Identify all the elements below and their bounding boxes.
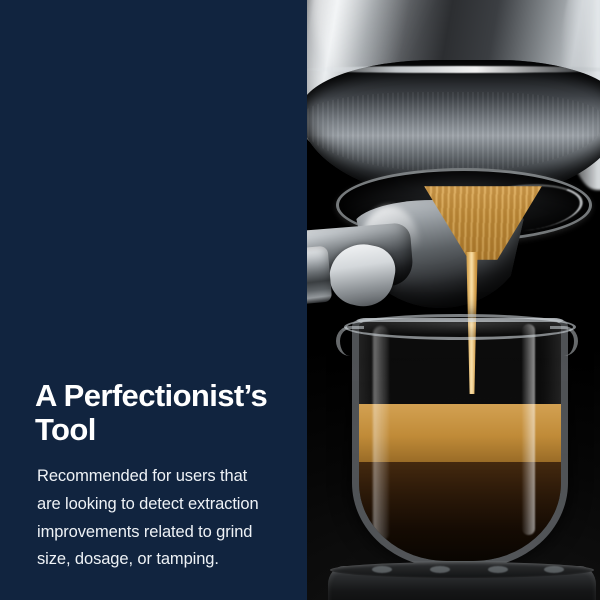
cup-rim [344, 314, 576, 340]
body-copy: Recommended for users that are looking t… [37, 463, 293, 574]
cup-spout-left [336, 326, 364, 356]
cup-glass-highlight-right [522, 324, 535, 535]
drip-tray-hole-4 [544, 566, 564, 573]
promo-card: A Perfectionist’s Tool Recommended for u… [0, 0, 600, 600]
text-panel: A Perfectionist’s Tool Recommended for u… [0, 0, 307, 600]
drip-tray-hole-1 [372, 566, 392, 573]
headline: A Perfectionist’s Tool [35, 379, 293, 447]
cup-glass-highlight-left [373, 326, 389, 541]
drip-tray-hole-3 [488, 566, 508, 573]
cup-spout-right [550, 326, 578, 356]
drip-tray-hole-2 [430, 566, 450, 573]
copy-block: A Perfectionist’s Tool Recommended for u… [35, 379, 293, 574]
glass-espresso-cup [352, 318, 568, 568]
